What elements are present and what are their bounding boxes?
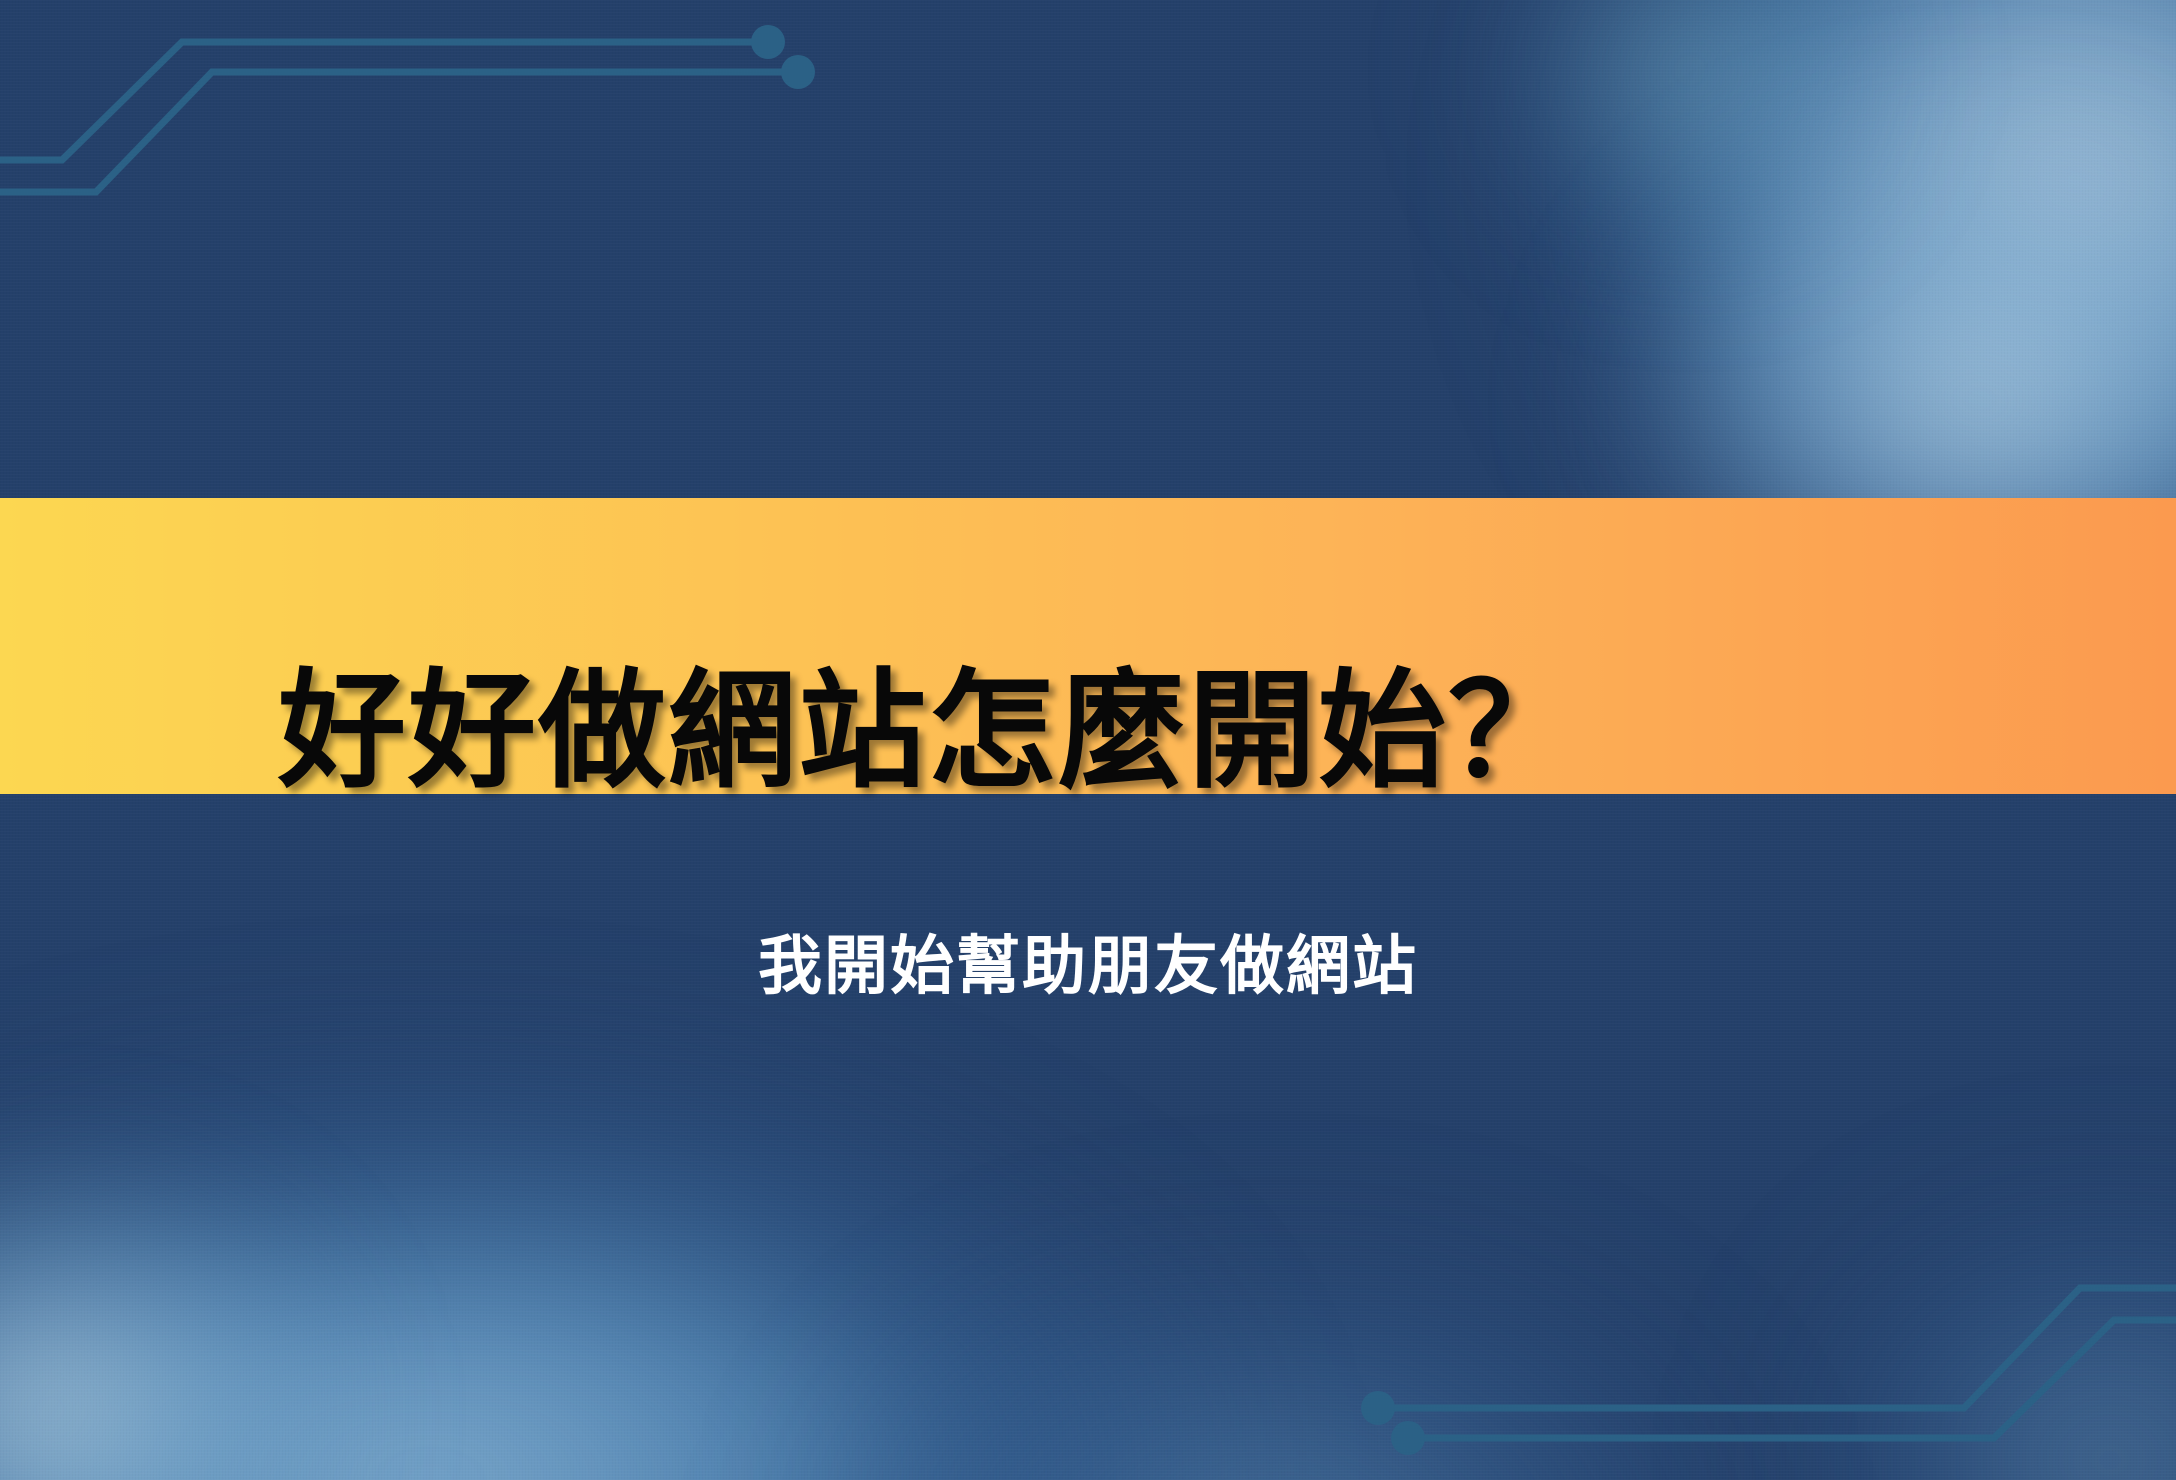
presentation-slide: 好好做網站怎麼開始？ 我開始幫助朋友做網站	[0, 0, 2176, 1480]
slide-subtitle: 我開始幫助朋友做網站	[0, 930, 2176, 1004]
slide-title: 好好做網站怎麼開始？	[278, 584, 1918, 880]
